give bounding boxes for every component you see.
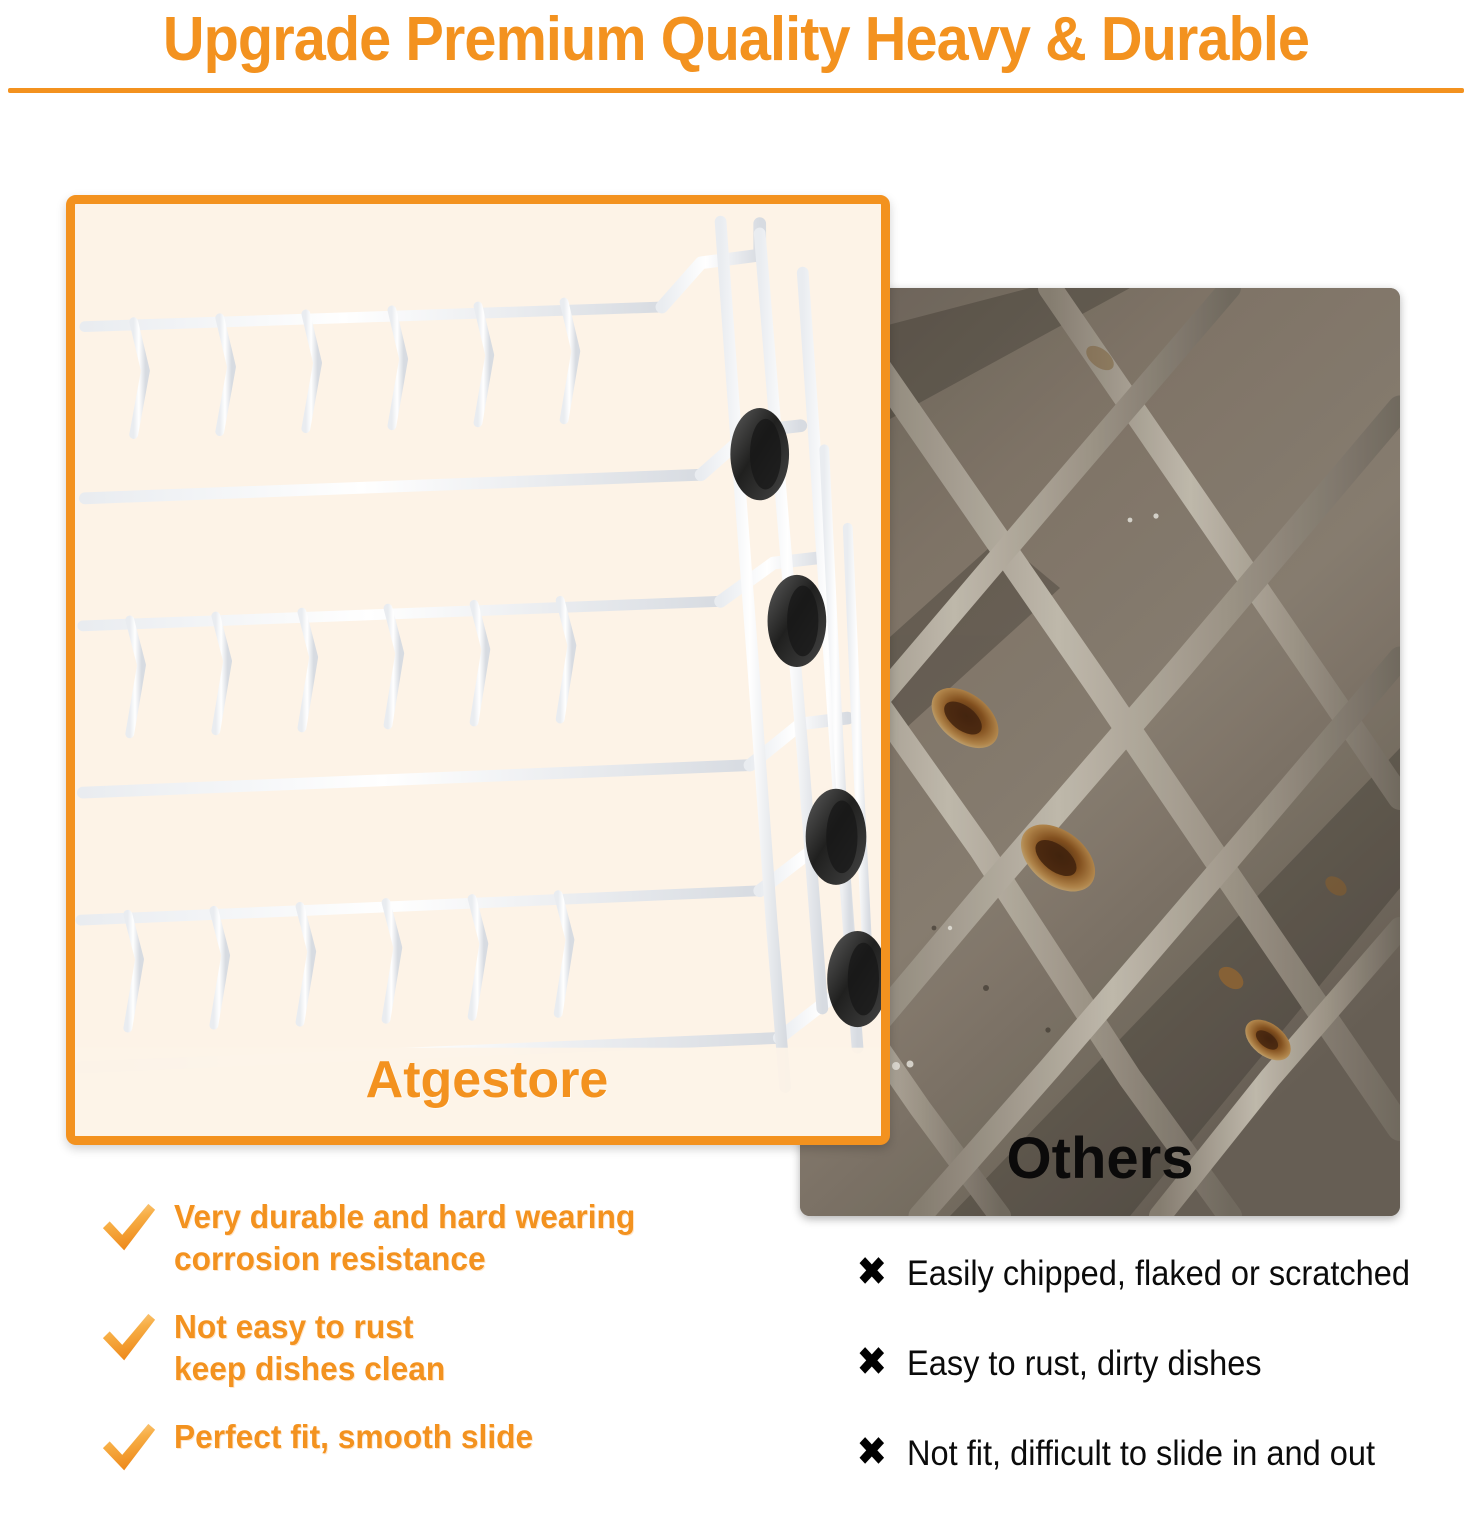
x-icon: ✖	[856, 1342, 887, 1382]
list-item-text: Perfect fit, smooth slide	[174, 1416, 533, 1458]
check-icon	[100, 1312, 158, 1366]
list-item: Not easy to rust keep dishes clean	[100, 1306, 800, 1390]
pros-list: Very durable and hard wearing corrosion …	[100, 1196, 800, 1502]
product-image-panel: Atgestore	[66, 195, 890, 1145]
list-item: ✖ Easy to rust, dirty dishes	[855, 1342, 1472, 1384]
check-icon	[100, 1202, 158, 1256]
list-item: Very durable and hard wearing corrosion …	[100, 1196, 800, 1280]
list-item-text: Not easy to rust keep dishes clean	[174, 1306, 445, 1390]
list-item: Perfect fit, smooth slide	[100, 1416, 800, 1476]
check-icon	[100, 1422, 158, 1476]
list-item-text: Very durable and hard wearing corrosion …	[174, 1196, 635, 1280]
competitor-label: Others	[800, 1125, 1400, 1192]
brand-label: Atgestore	[75, 1050, 890, 1110]
x-icon: ✖	[856, 1432, 887, 1472]
list-item: ✖ Easily chipped, flaked or scratched	[855, 1252, 1472, 1294]
x-icon: ✖	[856, 1252, 887, 1292]
list-item: ✖ Not fit, difficult to slide in and out	[855, 1432, 1472, 1474]
rusted-rack-photo	[800, 288, 1400, 1216]
page-title: Upgrade Premium Quality Heavy & Durable	[52, 2, 1421, 78]
list-item-text: Not fit, difficult to slide in and out	[907, 1434, 1375, 1474]
competitor-image-panel: Others	[800, 288, 1400, 1216]
list-item-text: Easy to rust, dirty dishes	[907, 1344, 1262, 1384]
header-divider	[8, 88, 1464, 93]
dish-rack-illustration	[75, 204, 881, 1136]
pro-line-1: Not easy to rust	[174, 1306, 445, 1348]
pro-line-2: keep dishes clean	[174, 1348, 445, 1390]
pro-line-1: Very durable and hard wearing	[174, 1196, 635, 1238]
cons-list: ✖ Easily chipped, flaked or scratched ✖ …	[855, 1252, 1472, 1522]
pro-line-2: corrosion resistance	[174, 1238, 635, 1280]
pro-line-1: Perfect fit, smooth slide	[174, 1416, 533, 1458]
list-item-text: Easily chipped, flaked or scratched	[907, 1254, 1410, 1294]
